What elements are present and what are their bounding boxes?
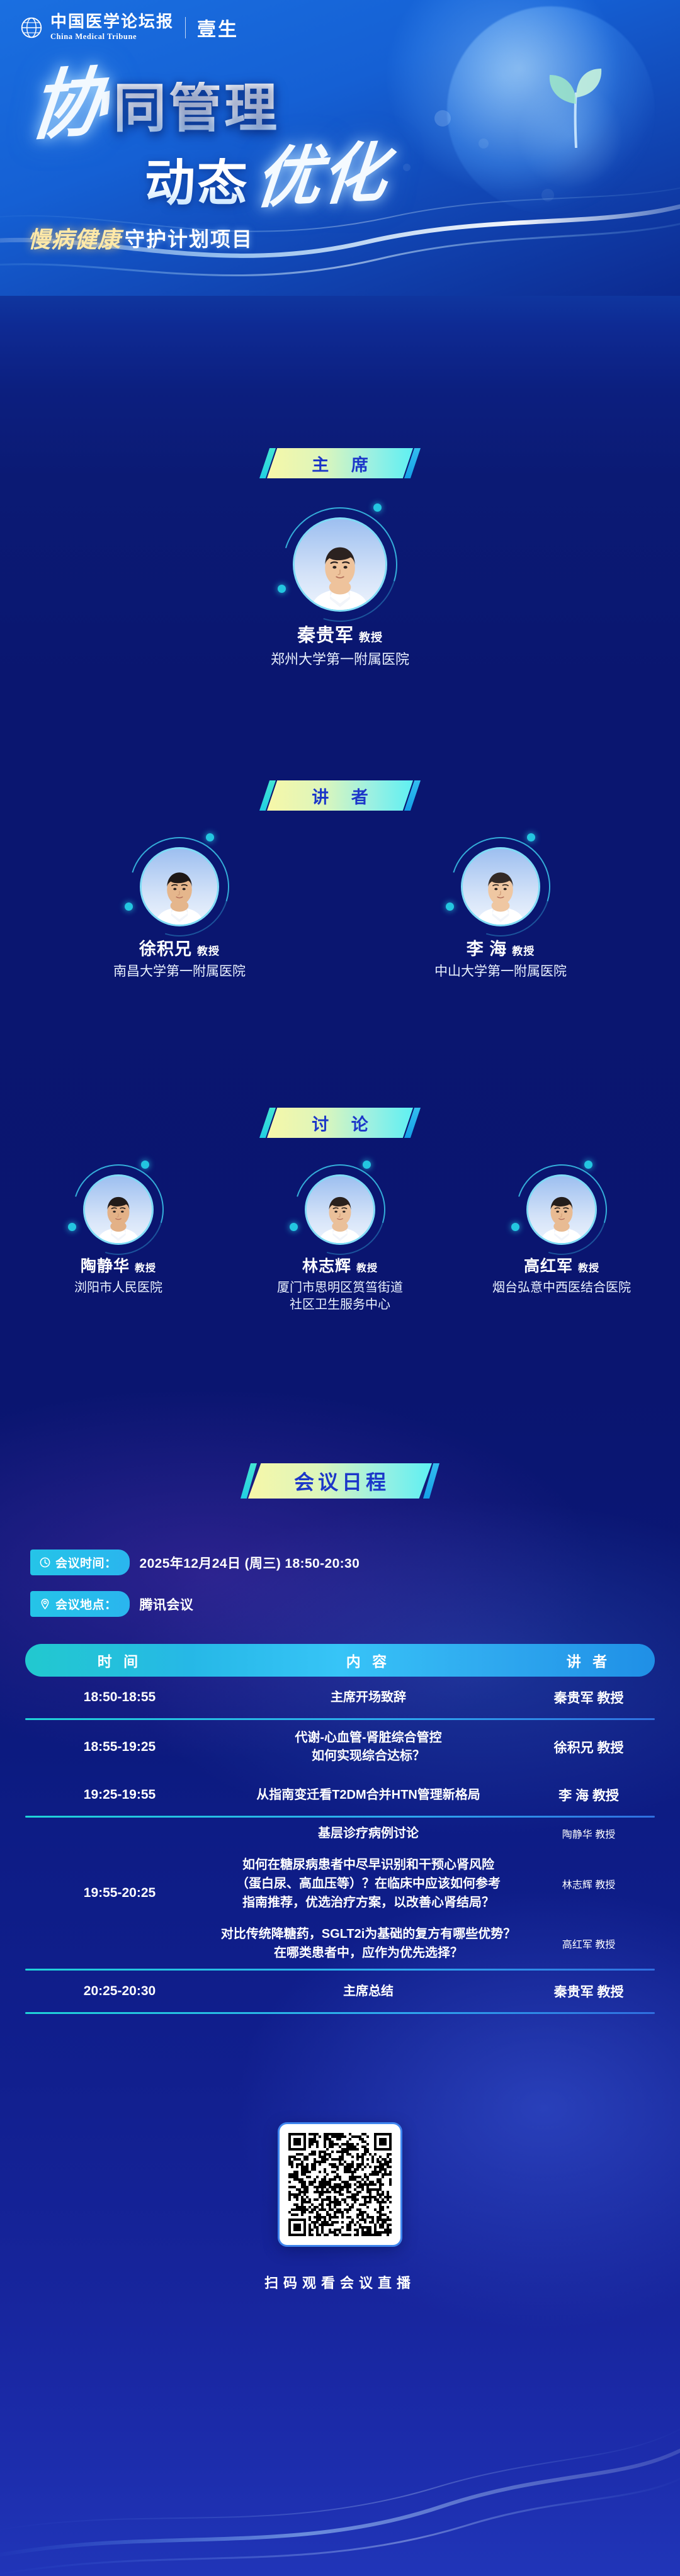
person-title: 教授 [359,631,383,644]
person-name-text: 李 海 [467,940,507,959]
qr-caption: 扫码观看会议直播 [0,2272,680,2292]
person-card: 徐积兄教授南昌大学第一附属医院 [76,847,283,981]
table-row: 如何在糖尿病患者中尽早识别和干预心肾风险 （蛋白尿、高血压等）？在临床中应该如何… [214,1849,655,1918]
footer-ribbon [0,2368,680,2576]
section-title-agenda: 会议日程 [248,1463,432,1499]
title-rest-2: 动态 [145,158,249,208]
person-organization: 郑州大学第一附属医院 [214,650,466,669]
meeting-place-line: 会议地点： 腾讯会议 [30,1591,193,1617]
chair-section: 主 席 秦贵军教授郑州大学第一附属医院 [0,448,680,669]
person-name: 李 海教授 [397,935,604,960]
person-card: 林志辉教授厦门市思明区筼筜街道 社区卫生服务中心 [246,1174,434,1313]
avatar-ring-dot [141,1161,149,1169]
person-card: 李 海教授中山大学第一附属医院 [397,847,604,981]
avatar-ring-dot [278,585,286,593]
agenda-table-body: 18:50-18:55主席开场致辞秦贵军 教授18:55-19:25代谢-心血管… [25,1677,655,2014]
column-header-speaker: 讲 者 [523,1650,655,1671]
section-banner-discussion: 讨 论 [267,1108,413,1138]
brand-cn-name: 中国医学论坛报 [50,14,174,30]
qr-code-icon[interactable] [288,2133,392,2236]
agenda-table: 时 间 内 容 讲 者 18:50-18:55主席开场致辞秦贵军 教授18:55… [25,1644,655,2014]
avatar-wrap [83,1174,154,1245]
speakers-section: 讲 者 徐积兄教授南昌大学第一附属医院 [0,780,680,981]
title-line-1: 协 同管理 [30,69,280,141]
cell-topic: 主席总结 [214,1983,523,2001]
cell-time: 18:50-18:55 [25,1690,214,1705]
qr-code-card[interactable] [280,2124,400,2245]
avatar [305,1174,375,1245]
avatar-ring-dot [68,1223,76,1231]
avatar-wrap [461,847,540,926]
title-line-2: 动态 优化 [145,146,387,208]
avatar-ring-dot [206,833,214,841]
meeting-place-label: 会议地点： [55,1595,117,1612]
person-title: 教授 [578,1263,599,1274]
person-card: 高红军教授烟台弘意中西医结合医院 [467,1174,656,1296]
cell-time: 18:55-19:25 [25,1740,214,1755]
avatar-ring-dot [527,833,535,841]
agenda-section: 会议日程 [0,1463,680,1499]
chair-people-row: 秦贵军教授郑州大学第一附属医院 [0,517,680,669]
person-organization: 南昌大学第一附属医院 [76,963,283,981]
avatar-wrap [140,847,219,926]
person-title: 教授 [135,1263,156,1274]
avatar-wrap [526,1174,597,1245]
person-name-text: 徐积兄 [139,940,192,959]
person-organization: 厦门市思明区筼筜街道 社区卫生服务中心 [246,1280,434,1313]
agenda-table-header: 时 间 内 容 讲 者 [25,1644,655,1677]
meeting-place-value: 腾讯会议 [140,1595,194,1614]
avatar [140,847,219,926]
section-banner-agenda: 会议日程 [248,1463,432,1499]
avatar [461,847,540,926]
person-name: 秦贵军教授 [214,621,466,647]
cell-time: 19:25-19:55 [25,1787,214,1803]
title-rest-1: 同管理 [113,82,280,135]
cell-speaker: 陶静华 教授 [523,1826,655,1841]
section-title-speakers: 讲 者 [267,780,413,811]
table-row: 18:55-19:25代谢-心血管-肾脏综合管控 如何实现综合达标？徐积兄 教授 [25,1720,655,1774]
person-name: 高红军教授 [467,1254,656,1276]
person-name-text: 陶静华 [81,1257,130,1275]
cell-topic: 主席开场致辞 [214,1689,523,1707]
section-title-discussion: 讨 论 [267,1108,413,1138]
cell-topic: 代谢-心血管-肾脏综合管控 如何实现综合达标？ [214,1729,523,1765]
meeting-time-value: 2025年12月24日 (周三) 18:50-20:30 [140,1553,360,1572]
cell-topic: 如何在糖尿病患者中尽早识别和干预心肾风险 （蛋白尿、高血压等）？在临床中应该如何… [214,1855,523,1912]
clock-icon [39,1556,51,1568]
cell-speaker: 高红军 教授 [523,1936,655,1951]
section-title-chair: 主 席 [267,448,413,478]
globe-icon [20,16,43,39]
location-pin-icon [39,1598,51,1610]
person-card: 秦贵军教授郑州大学第一附属医院 [214,517,466,669]
group-body: 基层诊疗病例讨论陶静华 教授如何在糖尿病患者中尽早识别和干预心肾风险 （蛋白尿、… [214,1818,655,1969]
avatar-ring-dot [373,503,382,512]
cell-time: 19:55-20:25 [25,1818,214,1969]
person-title: 教授 [512,945,535,957]
table-row-group: 19:55-20:25基层诊疗病例讨论陶静华 教授如何在糖尿病患者中尽早识别和干… [25,1818,655,1969]
person-organization: 中山大学第一附属医院 [397,963,604,981]
cell-topic: 对比传统降糖药，SGLT2i为基础的复方有哪些优势？ 在哪类患者中，应作为优先选… [214,1925,523,1962]
cell-speaker: 秦贵军 教授 [523,1688,655,1707]
cell-topic: 基层诊疗病例讨论 [214,1824,523,1843]
logo-divider [185,17,186,38]
avatar-ring-dot [446,903,454,911]
avatar [83,1174,154,1245]
person-name: 陶静华教授 [24,1254,213,1276]
table-row: 对比传统降糖药，SGLT2i为基础的复方有哪些优势？ 在哪类患者中，应作为优先选… [214,1918,655,1969]
subtitle-rest: 守护计划项目 [125,223,253,252]
table-row: 20:25-20:30主席总结秦贵军 教授 [25,1971,655,2012]
person-name: 林志辉教授 [246,1254,434,1276]
table-row-divider [25,2012,655,2014]
cell-speaker: 林志辉 教授 [523,1876,655,1891]
section-banner-speakers: 讲 者 [267,780,413,811]
cell-speaker: 徐积兄 教授 [523,1738,655,1757]
avatar-wrap [305,1174,375,1245]
meeting-time-line: 会议时间： 2025年12月24日 (周三) 18:50-20:30 [30,1550,360,1575]
person-organization: 烟台弘意中西医结合医院 [467,1280,656,1296]
column-header-topic: 内 容 [214,1650,523,1671]
section-banner-chair: 主 席 [267,448,413,478]
discussants-people-row: 陶静华教授浏阳市人民医院 林志辉教授厦门市思明区筼筜街道 社区卫生服务中心 [0,1174,680,1313]
avatar [293,517,387,612]
avatar [526,1174,597,1245]
avatar-ring-dot [511,1223,519,1231]
hero-banner: 中国医学论坛报 China Medical Tribune 壹生 协 同管理 动… [0,0,680,296]
hero-title: 协 同管理 动态 优化 慢病健康 守护计划项目 [0,63,680,271]
avatar-ring-dot [290,1223,298,1231]
meeting-time-pill: 会议时间： [30,1550,130,1575]
table-row: 18:50-18:55主席开场致辞秦贵军 教授 [25,1677,655,1718]
meeting-place-pill: 会议地点： [30,1591,130,1617]
avatar-wrap [293,517,387,612]
brand-logo: 中国医学论坛报 China Medical Tribune 壹生 [20,14,239,42]
person-title: 教授 [197,945,220,957]
avatar-ring-dot [363,1161,371,1169]
discussion-section: 讨 论 陶静华教授浏阳市人民医院 [0,1108,680,1313]
avatar-ring-dot [584,1161,592,1169]
cell-time: 20:25-20:30 [25,1984,214,1999]
person-title: 教授 [356,1263,378,1274]
brand-en-name: China Medical Tribune [50,32,174,42]
meeting-time-label: 会议时间： [55,1554,117,1571]
subtitle-accent: 慢病健康 [28,222,121,254]
cell-speaker: 李 海 教授 [523,1786,655,1804]
title-accent-char-1: 协 [26,67,109,143]
column-header-time: 时 间 [25,1650,214,1671]
table-row: 19:25-19:55从指南变迁看T2DM合并HTN管理新格局李 海 教授 [25,1774,655,1816]
table-row: 基层诊疗病例讨论陶静华 教授 [214,1818,655,1849]
person-name-text: 高红军 [524,1257,573,1275]
avatar-ring-dot [125,903,133,911]
sub-brand-name: 壹生 [197,14,239,42]
hero-subtitle: 慢病健康 守护计划项目 [28,222,253,254]
person-name-text: 林志辉 [302,1257,351,1275]
person-organization: 浏阳市人民医院 [24,1280,213,1296]
person-card: 陶静华教授浏阳市人民医院 [24,1174,213,1296]
person-name-text: 秦贵军 [297,626,354,646]
footer-decoration [0,2368,680,2576]
person-name: 徐积兄教授 [76,935,283,960]
cell-speaker: 秦贵军 教授 [523,1982,655,2001]
title-accent-char-2: 优化 [252,143,390,212]
cell-topic: 从指南变迁看T2DM合并HTN管理新格局 [214,1786,523,1804]
speakers-people-row: 徐积兄教授南昌大学第一附属医院 李 海教授中山大学第一附属医院 [0,847,680,981]
